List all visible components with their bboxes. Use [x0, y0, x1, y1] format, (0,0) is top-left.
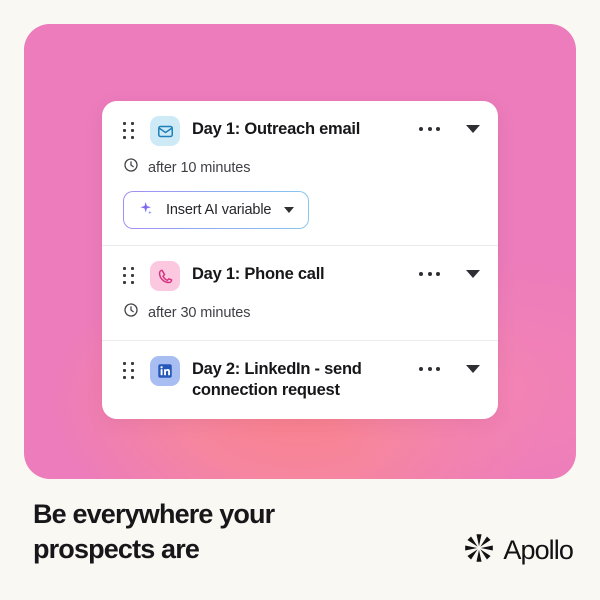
step-header: Day 2: LinkedIn - send connection reques…: [120, 341, 480, 419]
sequence-step-2[interactable]: Day 1: Phone call after 30 minutes: [102, 245, 498, 340]
more-options-icon[interactable]: [419, 272, 440, 276]
footer: Be everywhere your prospects are: [0, 497, 600, 600]
step-actions: [419, 356, 480, 373]
insert-ai-variable-label: Insert AI variable: [166, 202, 271, 218]
step-actions: [419, 261, 480, 278]
tagline: Be everywhere your prospects are: [33, 497, 343, 567]
more-options-icon[interactable]: [419, 127, 440, 131]
chevron-down-icon[interactable]: [466, 365, 480, 373]
chevron-down-icon[interactable]: [466, 270, 480, 278]
step-delay: after 30 minutes: [123, 302, 480, 340]
step-title: Day 2: LinkedIn - send connection reques…: [192, 356, 419, 402]
drag-handle-icon[interactable]: [120, 356, 138, 380]
drag-handle-icon[interactable]: [120, 261, 138, 285]
step-title: Day 1: Phone call: [192, 261, 419, 285]
brand-name: Apollo: [503, 535, 573, 566]
apollo-starburst-logo: [464, 533, 494, 568]
step-delay: after 10 minutes: [123, 157, 480, 178]
step-delay-label: after 30 minutes: [148, 305, 250, 321]
more-options-icon[interactable]: [419, 367, 440, 371]
clock-icon: [123, 302, 139, 323]
chevron-down-icon[interactable]: [284, 207, 294, 213]
step-header: Day 1: Outreach email: [120, 101, 480, 146]
step-delay-label: after 10 minutes: [148, 160, 250, 176]
drag-handle-icon[interactable]: [120, 116, 138, 140]
step-header: Day 1: Phone call: [120, 246, 480, 291]
chevron-down-icon[interactable]: [466, 125, 480, 133]
step-title: Day 1: Outreach email: [192, 116, 419, 140]
sequence-card: Day 1: Outreach email after 10 minutes: [102, 101, 498, 419]
insert-ai-variable-button[interactable]: Insert AI variable: [123, 191, 309, 229]
linkedin-icon: [150, 356, 180, 386]
phone-icon: [150, 261, 180, 291]
sequence-step-3[interactable]: Day 2: LinkedIn - send connection reques…: [102, 340, 498, 419]
brand-lockup: Apollo: [464, 533, 573, 568]
sparkle-icon: [137, 200, 155, 221]
step-actions: [419, 116, 480, 133]
clock-icon: [123, 157, 139, 178]
email-icon: [150, 116, 180, 146]
sequence-step-1[interactable]: Day 1: Outreach email after 10 minutes: [102, 101, 498, 245]
